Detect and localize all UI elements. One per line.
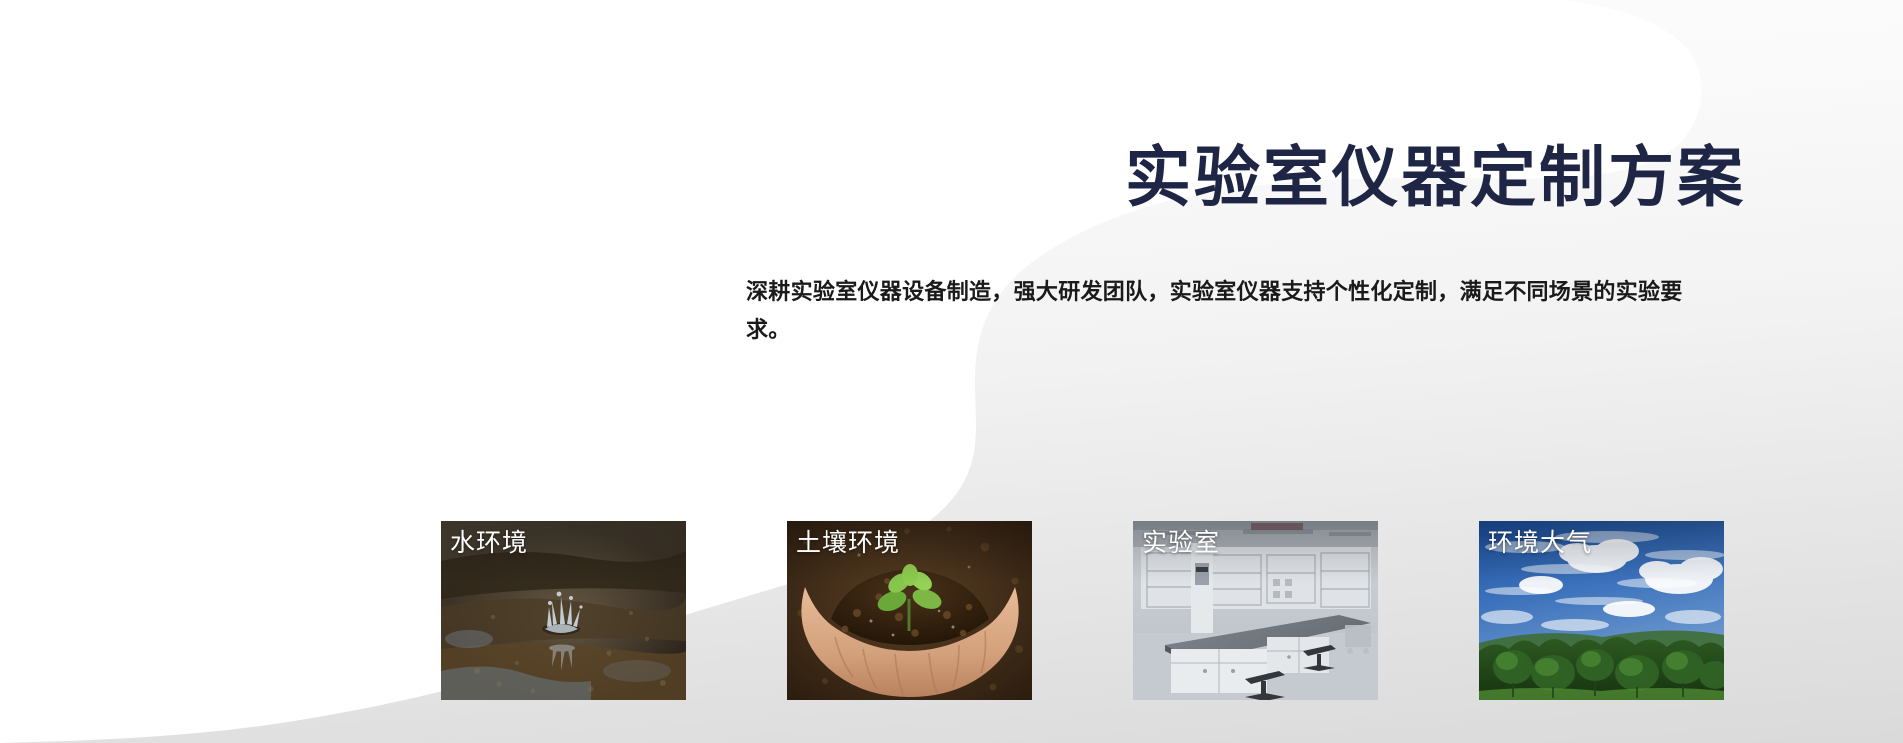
page-title: 实验室仪器定制方案: [746, 140, 1746, 215]
category-card-water[interactable]: 水环境: [441, 521, 686, 700]
card-label-soil: 土壤环境: [796, 528, 900, 559]
hero-copy: 实验室仪器定制方案 深耕实验室仪器设备制造，强大研发团队，实验室仪器支持个性化定…: [746, 140, 1746, 349]
hero-banner: 实验室仪器定制方案 深耕实验室仪器设备制造，强大研发团队，实验室仪器支持个性化定…: [0, 0, 1903, 743]
category-card-laboratory[interactable]: 实验室: [1133, 521, 1378, 700]
category-card-atmosphere[interactable]: 环境大气: [1479, 521, 1724, 700]
card-label-atmosphere: 环境大气: [1488, 528, 1592, 559]
card-label-laboratory: 实验室: [1142, 528, 1220, 559]
category-card-row: 水环境: [441, 521, 1724, 700]
decorative-circle-large: [394, 184, 516, 306]
hero-subtitle: 深耕实验室仪器设备制造，强大研发团队，实验室仪器支持个性化定制，满足不同场景的实…: [746, 273, 1716, 349]
category-card-soil[interactable]: 土壤环境: [787, 521, 1032, 700]
decorative-circle-small: [295, 541, 367, 613]
card-label-water: 水环境: [450, 528, 528, 559]
